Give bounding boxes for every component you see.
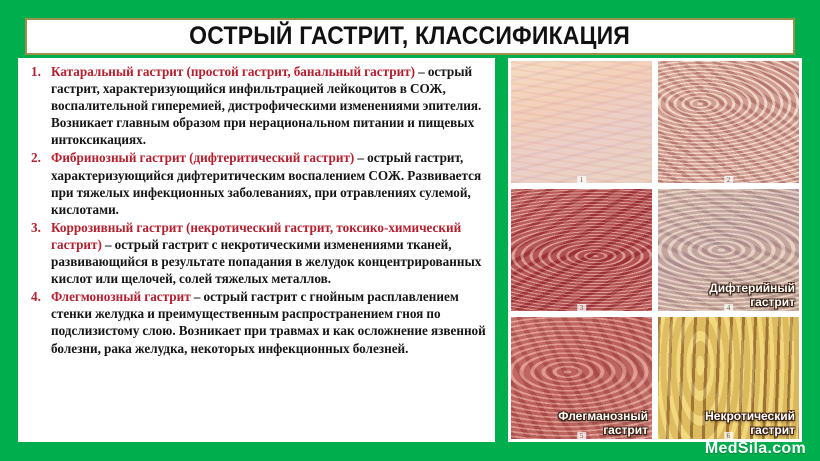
mucosa-illustration [658,317,799,439]
list-item-term: Фибринозный гастрит (дифтеритический гас… [51,150,354,165]
figure-panel-5: Флегманозный гастрит 5 [511,317,652,439]
list-item-term: Флегмонозный гастрит [51,289,191,304]
list-item-body: Фибринозный гастрит (дифтеритический гас… [51,149,487,217]
list-item-description: – острый гастрит с некротическими измене… [51,237,481,286]
figure-number: 3 [577,304,587,311]
figure-number: 4 [724,304,734,311]
list-item-body: Катаральный гастрит (простой гастрит, ба… [51,63,487,148]
figure-panel-2: 2 [658,61,799,183]
list-item-term: Катаральный гастрит (простой гастрит, ба… [51,64,415,79]
figure-panel-6: Некротический гастрит 6 [658,317,799,439]
figure-panel-3: 3 [511,189,652,311]
slide-title-bar: ОСТРЫЙ ГАСТРИТ, КЛАССИФИКАЦИЯ [25,18,795,55]
slide-root: ОСТРЫЙ ГАСТРИТ, КЛАССИФИКАЦИЯ 1. Катарал… [0,0,820,461]
list-item-body: Флегмонозный гастрит – острый гастрит с … [51,288,487,356]
mucosa-illustration [511,189,652,311]
figure-panel-1: 1 [511,61,652,183]
mucosa-illustration [511,317,652,439]
gastritis-image-grid: 1 2 3 Дифтерийный гастрит 4 Флегманозный… [508,58,802,442]
list-item: 4. Флегмонозный гастрит – острый гастрит… [27,288,487,356]
list-item: 2. Фибринозный гастрит (дифтеритический … [27,149,487,217]
list-item: 1. Катаральный гастрит (простой гастрит,… [27,63,487,148]
figure-number: 5 [577,432,587,439]
classification-text-panel: 1. Катаральный гастрит (простой гастрит,… [18,58,495,442]
figure-number: 1 [577,176,587,183]
list-item-number: 3. [27,219,51,236]
list-item-number: 2. [27,149,51,166]
mucosa-illustration [658,61,799,183]
site-watermark: MedSila.com [705,440,806,458]
figure-number: 6 [724,432,734,439]
list-item: 3. Коррозивный гастрит (некротический га… [27,219,487,287]
list-item-number: 1. [27,63,51,80]
figure-panel-4: Дифтерийный гастрит 4 [658,189,799,311]
mucosa-illustration [511,61,652,183]
figure-number: 2 [724,176,734,183]
mucosa-illustration [658,189,799,311]
page-title: ОСТРЫЙ ГАСТРИТ, КЛАССИФИКАЦИЯ [190,22,631,51]
list-item-body: Коррозивный гастрит (некротический гастр… [51,219,487,287]
list-item-number: 4. [27,288,51,305]
